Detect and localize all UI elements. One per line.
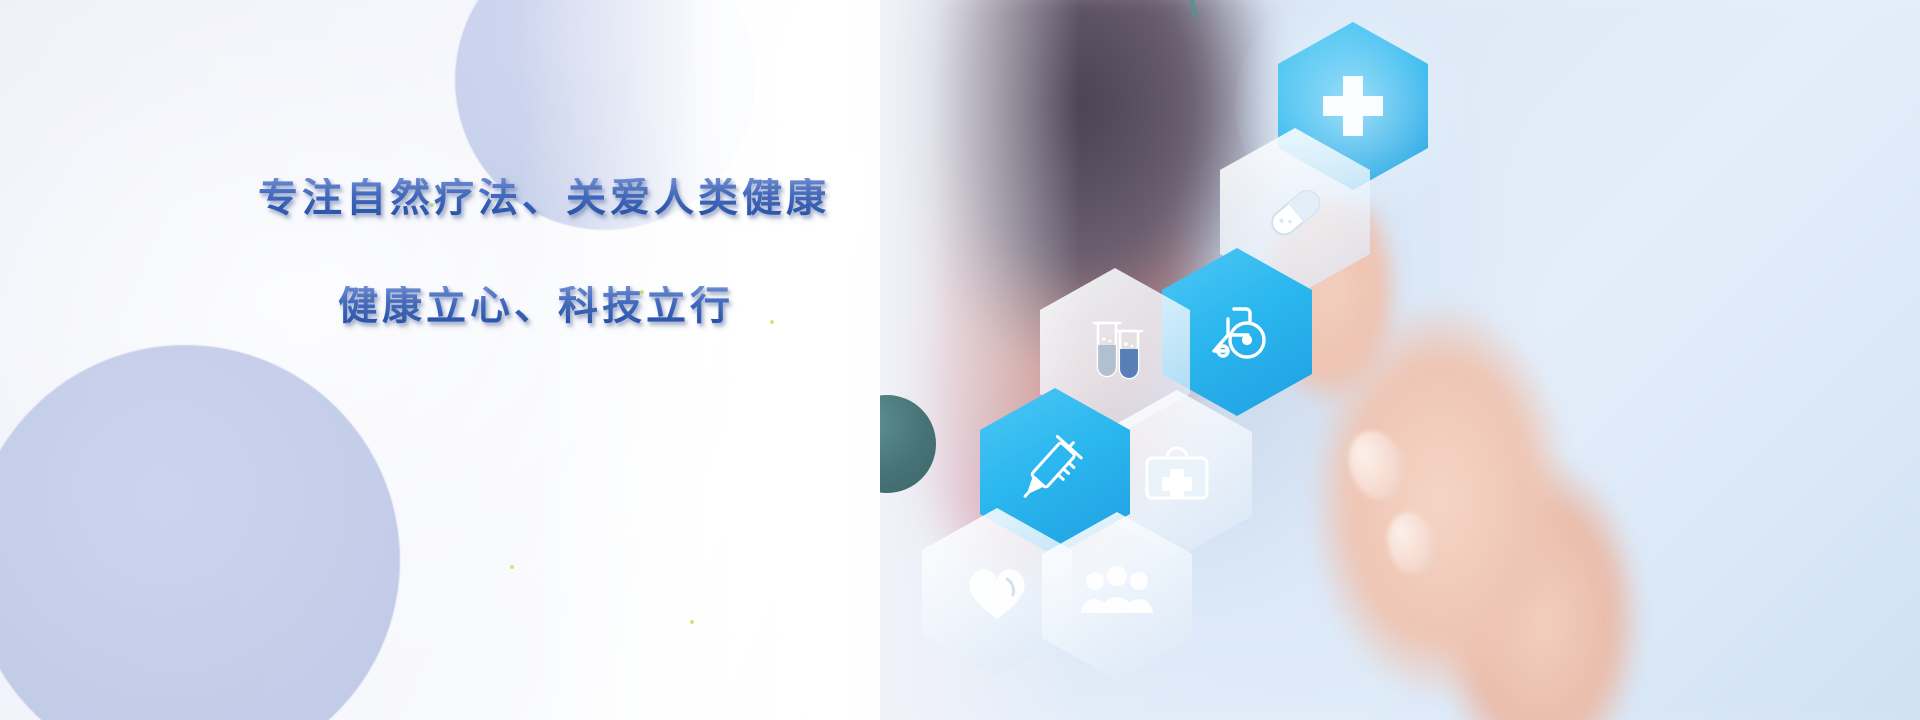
people-group-icon [1075, 561, 1159, 631]
headline-line-1: 专注自然疗法、关爱人类健康 [258, 178, 898, 218]
first-aid-kit-icon [1137, 436, 1217, 512]
hexagon-cluster [880, 0, 1920, 720]
heart-icon [957, 555, 1037, 629]
photo-panel [880, 0, 1920, 720]
wheelchair-icon [1198, 293, 1276, 371]
medical-cross-icon [1316, 69, 1390, 143]
headline-line-2: 健康立心、科技立行 [338, 286, 898, 326]
syringe-icon [1013, 430, 1097, 514]
test-tubes-icon [1076, 311, 1154, 393]
soft-circle-bottom [0, 345, 400, 720]
headline-block: 专注自然疗法、关爱人类健康 健康立心、科技立行 [258, 178, 898, 326]
sparkle-dot [510, 565, 514, 569]
sparkle-dot [690, 620, 694, 624]
pill-capsule-icon [1256, 173, 1334, 251]
left-light-wash [0, 0, 880, 720]
hero-banner: 专注自然疗法、关爱人类健康 健康立心、科技立行 [0, 0, 1920, 720]
